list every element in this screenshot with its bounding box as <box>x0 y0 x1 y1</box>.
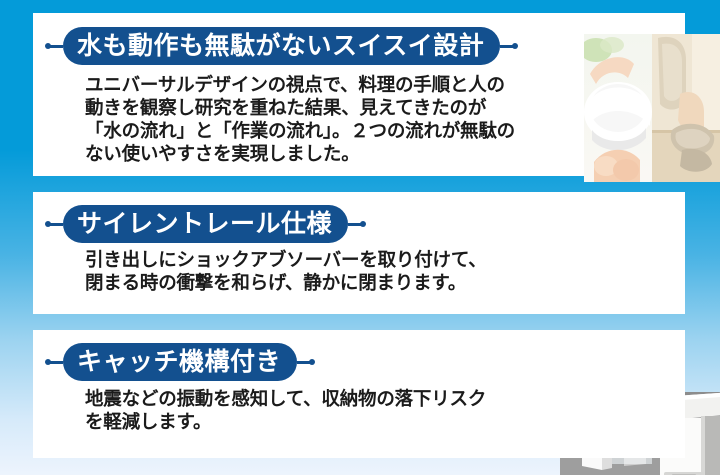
feature-body-text: ユニバーサルデザインの視点で、料理の手順と人の 動きを観察し研究を重ねた結果、見… <box>85 74 555 166</box>
ribbon-tie-right-icon <box>500 27 518 65</box>
feature-body-text: 引き出しにショックアブソーバーを取り付けて、 閉まる時の衝撃を和らげ、静かに閉ま… <box>85 249 555 295</box>
ribbon-tie-right-icon <box>297 343 315 381</box>
feature-heading-banner: キャッチ機構付き <box>45 343 315 381</box>
feet-in-slippers-photo <box>652 34 720 182</box>
ribbon-tie-left-icon <box>45 205 63 243</box>
feature-card: 水も動作も無駄がないスイスイ設計 ユニバーサルデザインの視点で、料理の手順と人の… <box>33 13 685 176</box>
hands-washing-bowl-photo <box>584 34 652 182</box>
feature-heading-text: サイレントレール仕様 <box>63 205 348 243</box>
feature-card: キャッチ機構付き 地震などの振動を感知して、収納物の落下リスク を軽減します。 <box>33 330 685 458</box>
feature-body-text: 地震などの振動を感知して、収納物の落下リスク を軽減します。 <box>85 388 555 434</box>
feature-heading-text: 水も動作も無駄がないスイスイ設計 <box>63 27 500 65</box>
feature-card: サイレントレール仕様 引き出しにショックアブソーバーを取り付けて、 閉まる時の衝… <box>33 192 685 314</box>
feature-heading-text: キャッチ機構付き <box>63 343 297 381</box>
feature-heading-banner: 水も動作も無駄がないスイスイ設計 <box>45 27 518 65</box>
feature-panel: 水も動作も無駄がないスイスイ設計 ユニバーサルデザインの視点で、料理の手順と人の… <box>0 0 720 475</box>
ribbon-tie-left-icon <box>45 343 63 381</box>
ribbon-tie-left-icon <box>45 27 63 65</box>
ribbon-tie-right-icon <box>348 205 366 243</box>
feature-heading-banner: サイレントレール仕様 <box>45 205 366 243</box>
